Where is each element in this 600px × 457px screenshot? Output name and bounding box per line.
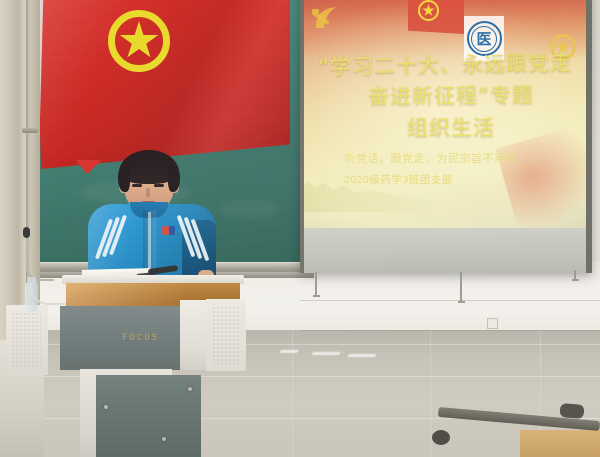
lectern-brand-label: FOCUS <box>122 333 159 343</box>
youth-league-emblem-icon <box>108 10 170 72</box>
eye-left <box>132 184 142 187</box>
lectern-speaker-grille <box>6 305 48 375</box>
student-speaker <box>86 150 218 285</box>
wall-socket[interactable] <box>487 318 498 329</box>
desk-wheel <box>432 430 450 445</box>
screen-hook-foot <box>458 301 465 303</box>
door-handle[interactable] <box>22 128 38 133</box>
wooden-desk <box>520 430 600 457</box>
jacket-zipper <box>148 212 151 272</box>
hair-side-right <box>168 164 180 192</box>
desk-rail-cap <box>559 403 584 419</box>
lectern-front-panel <box>96 375 201 457</box>
projection-screen-blank-area <box>304 228 586 273</box>
water-bottle[interactable] <box>25 282 38 312</box>
hair-side-left <box>118 164 130 192</box>
nose <box>146 188 150 197</box>
projected-slide: 医 “学习二十大、永远跟党走 奋进新征程”专题 组织生活 ·听党话，跟党走，为民… <box>304 0 586 228</box>
lectern: FOCUS <box>36 275 256 457</box>
screen-hook-foot <box>313 295 320 297</box>
gooseneck-microphone[interactable] <box>26 231 54 281</box>
communist-youth-league-flag <box>36 0 290 169</box>
lectern-speaker-grille <box>206 299 246 371</box>
screen-hook <box>460 272 462 302</box>
microphone-head <box>23 227 30 238</box>
eye-right <box>154 184 164 187</box>
screen-hook <box>315 272 317 296</box>
jacket-chest-logo <box>162 226 175 235</box>
screen-hook-foot <box>572 279 579 281</box>
classroom-photo-scene: 医 “学习二十大、永远跟党走 奋进新征程”专题 组织生活 ·听党话，跟党走，为民… <box>0 0 600 457</box>
water-bottle-cap <box>27 277 36 283</box>
